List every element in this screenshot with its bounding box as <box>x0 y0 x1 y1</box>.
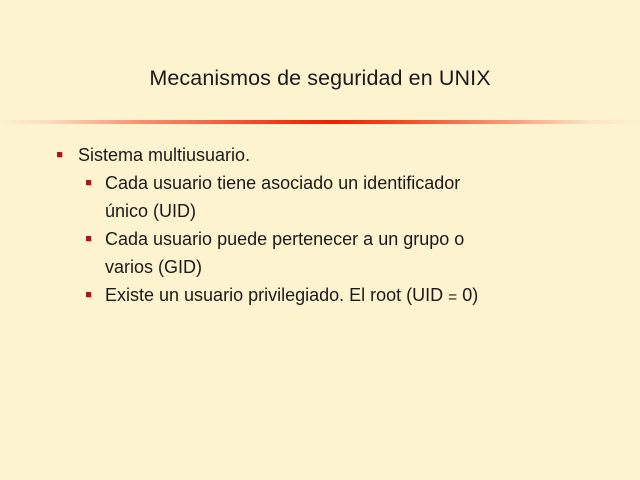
page-title: Mecanismos de seguridad en UNIX <box>0 66 640 91</box>
bullet-square-icon <box>86 292 91 297</box>
bullet-square-icon <box>86 180 91 185</box>
list-item-label-part-2: 0) <box>457 285 478 305</box>
list-item-label: Sistema multiusuario. <box>78 141 640 169</box>
equals-symbol: = <box>448 289 457 306</box>
bullet-square-icon <box>86 236 91 241</box>
bullet-square-icon <box>57 152 62 157</box>
list-item-label-part-1: Existe un usuario privilegiado. El root … <box>105 285 448 305</box>
list-item: Cada usuario puede pertenecer a un grupo… <box>0 225 640 281</box>
list-item: Sistema multiusuario. <box>0 141 640 169</box>
list-item-label: Existe un usuario privilegiado. El root … <box>105 281 640 311</box>
list-item-label: Cada usuario tiene asociado un identific… <box>105 169 640 225</box>
list-item: Existe un usuario privilegiado. El root … <box>0 281 640 311</box>
list-item: Cada usuario tiene asociado un identific… <box>0 169 640 225</box>
slide-canvas: Mecanismos de seguridad en UNIX Sistema … <box>0 0 640 480</box>
title-divider-rule <box>0 120 640 124</box>
slide-body-list: Sistema multiusuario. Cada usuario tiene… <box>0 141 640 311</box>
list-item-label: Cada usuario puede pertenecer a un grupo… <box>105 225 640 281</box>
